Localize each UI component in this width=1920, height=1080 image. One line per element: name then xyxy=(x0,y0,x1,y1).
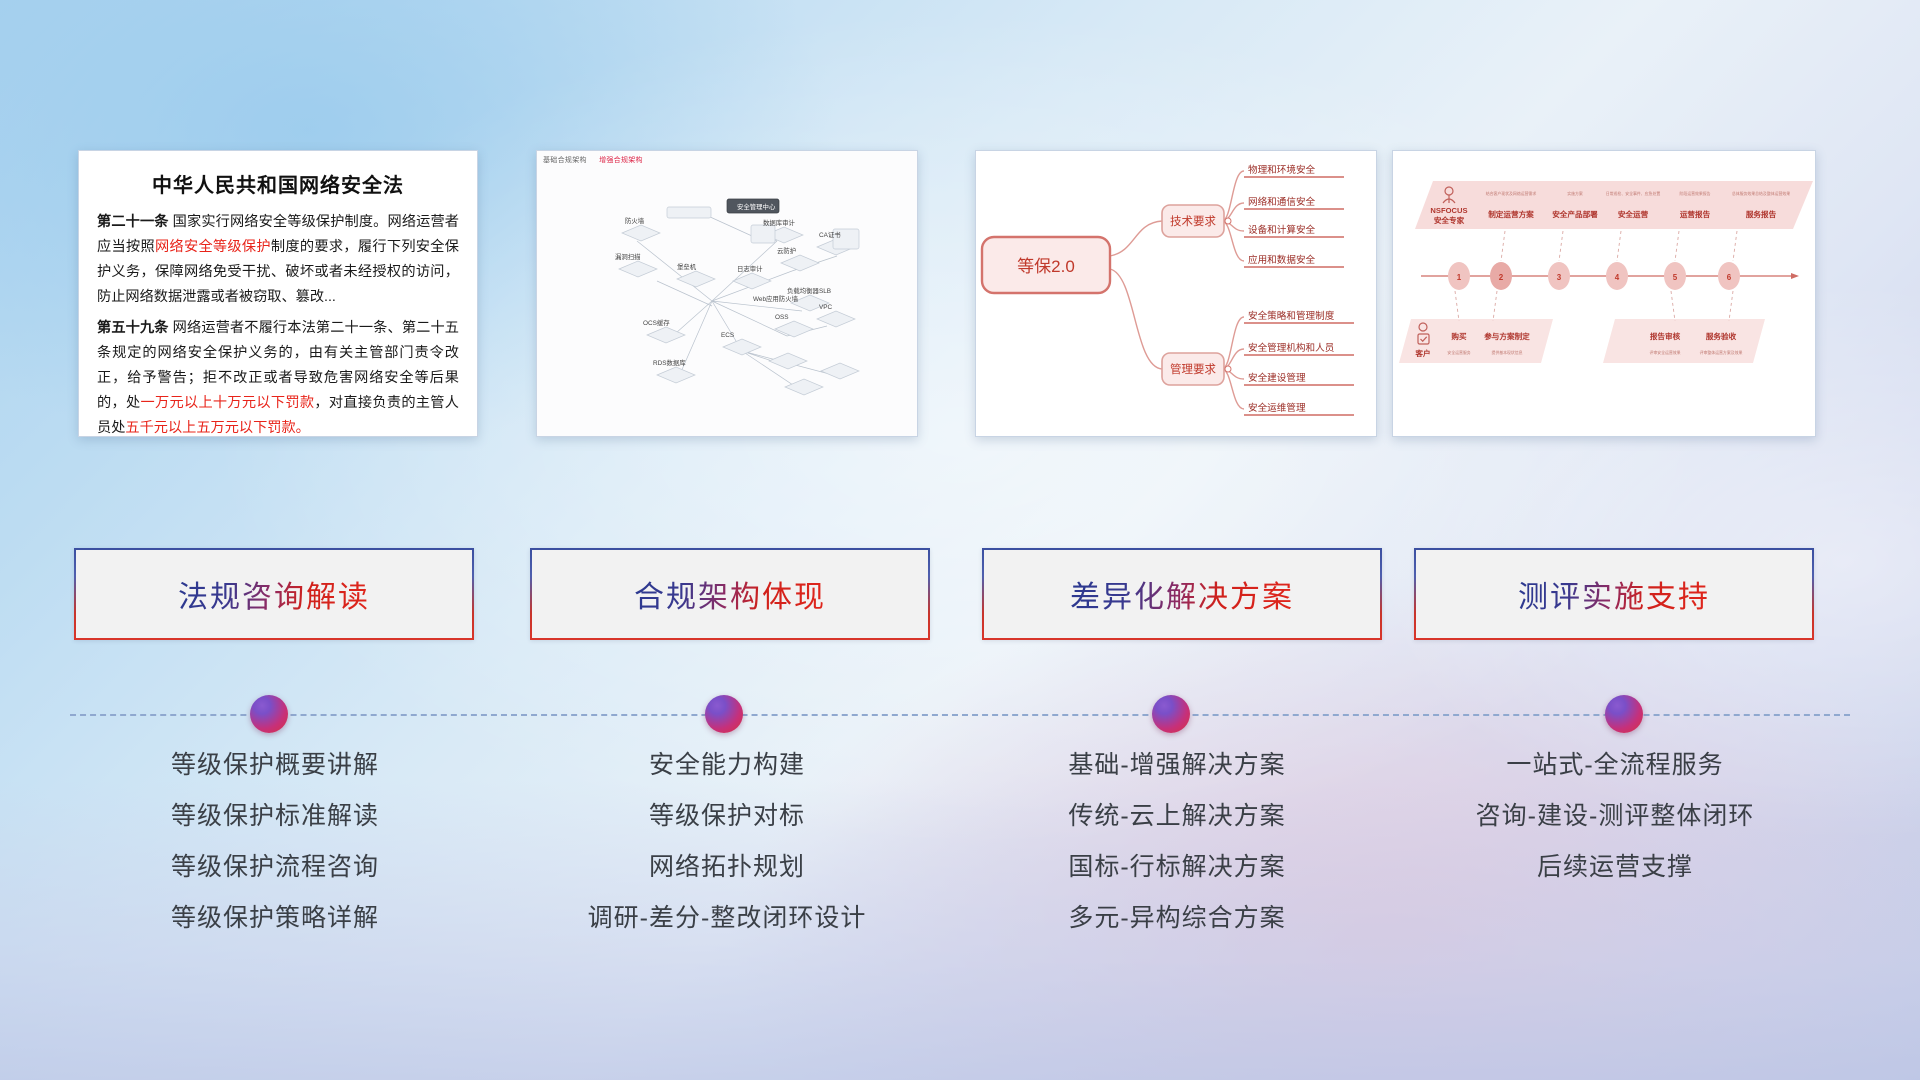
category-label-text-4: 测评实施支持 xyxy=(1518,572,1710,616)
detail-list-column-3: 基础-增强解决方案 传统-云上解决方案 国标-行标解决方案 多元-异构综合方案 xyxy=(962,740,1392,944)
svg-text:ECS: ECS xyxy=(721,332,734,339)
category-label-box-4[interactable]: 测评实施支持 xyxy=(1414,548,1814,640)
top-title-3: 安全运营 xyxy=(1618,209,1649,219)
progress-axis xyxy=(0,695,1920,735)
bottom-sub-1: 安全运营服务 xyxy=(1447,350,1470,355)
architecture-node-labels: 安全管理中心 防火墙 漏洞扫描 堡垒机 日志审计 数据库审计 CA证书 云防护 … xyxy=(615,202,841,367)
top-title-2: 安全产品部署 xyxy=(1552,209,1598,219)
timeline-number-5: 5 xyxy=(1673,273,1678,282)
detail-list-column-2: 安全能力构建 等级保护对标 网络拓扑规划 调研-差分-整改闭环设计 xyxy=(512,740,942,944)
bottom-title-4: 服务验收 xyxy=(1706,331,1737,341)
mindmap-leaf-1-1: 物理和环境安全 xyxy=(1248,164,1316,176)
cards-row: 中华人民共和国网络安全法 第二十一条 国家实行网络安全等级保护制度。网络运营者应… xyxy=(0,150,1920,445)
mindmap-svg: 等保2.0 技术要求 管理要求 物理和环境安全 网络和通信安全 设备和计算安全 … xyxy=(976,151,1376,436)
category-label-box-3[interactable]: 差异化解决方案 xyxy=(982,548,1382,640)
category-label-text-2: 合规架构体现 xyxy=(634,572,826,616)
bottom-sub-4: 评审整体运营方案及效果 xyxy=(1700,350,1743,355)
law-article-59-highlight-2: 五千元以上五万元以下罚款。 xyxy=(125,420,309,436)
timeline-svg: NSFOCUS 安全专家 客户 结合客户现状及网络运营需求 实施方案 日常巡检、… xyxy=(1393,151,1815,436)
timeline-number-1: 1 xyxy=(1457,273,1462,282)
bottom-sub-3: 评审安全运营效果 xyxy=(1649,350,1680,355)
list-item: 等级保护标准解读 xyxy=(60,791,490,842)
law-article-21-highlight: 网络安全等级保护 xyxy=(155,239,271,255)
detail-list-column-4: 一站式-全流程服务 咨询-建设-测评整体闭环 后续运营支撑 xyxy=(1400,740,1830,893)
top-sub-4: 阶段运营效果报告 xyxy=(1679,191,1710,196)
timeline-number-6: 6 xyxy=(1727,273,1732,282)
list-item: 调研-差分-整改闭环设计 xyxy=(512,893,942,944)
list-item: 安全能力构建 xyxy=(512,740,942,791)
bottom-title-3: 报告审核 xyxy=(1650,331,1681,341)
mindmap-leaf-1-2: 网络和通信安全 xyxy=(1248,196,1316,208)
top-title-4: 运营报告 xyxy=(1680,209,1711,219)
mindmap: 等保2.0 技术要求 管理要求 物理和环境安全 网络和通信安全 设备和计算安全 … xyxy=(976,151,1376,436)
top-sub-2: 实施方案 xyxy=(1567,191,1583,196)
list-item: 等级保护概要讲解 xyxy=(60,740,490,791)
svg-text:CA证书: CA证书 xyxy=(819,230,841,239)
law-article-59-number: 第五十九条 xyxy=(97,320,169,336)
service-timeline: NSFOCUS 安全专家 客户 结合客户现状及网络运营需求 实施方案 日常巡检、… xyxy=(1393,151,1815,436)
detail-lists-row: 等级保护概要讲解 等级保护标准解读 等级保护流程咨询 等级保护策略详解 安全能力… xyxy=(0,740,1920,970)
architecture-diagram: 基础合规架构 增强合规架构 xyxy=(537,151,917,436)
svg-text:防火墙: 防火墙 xyxy=(625,216,645,225)
category-label-box-1[interactable]: 法规咨询解读 xyxy=(74,548,474,640)
timeline-arrow-head xyxy=(1791,273,1799,279)
law-article-21-number: 第二十一条 xyxy=(97,214,169,230)
top-sub-1: 结合客户现状及网络运营需求 xyxy=(1486,191,1537,196)
list-item: 一站式-全流程服务 xyxy=(1400,740,1830,791)
law-text-body: 中华人民共和国网络安全法 第二十一条 国家实行网络安全等级保护制度。网络运营者应… xyxy=(79,151,477,436)
mindmap-branch-label-1: 技术要求 xyxy=(1170,215,1216,228)
mindmap-root-label: 等保2.0 xyxy=(1017,257,1075,276)
timeline-number-4: 4 xyxy=(1615,273,1620,282)
list-item: 基础-增强解决方案 xyxy=(962,740,1392,791)
svg-text:堡垒机: 堡垒机 xyxy=(677,262,697,271)
svg-text:安全管理中心: 安全管理中心 xyxy=(737,202,776,211)
list-item: 咨询-建设-测评整体闭环 xyxy=(1400,791,1830,842)
timeline-step-numbers: 1 2 3 4 5 6 xyxy=(1457,273,1732,282)
list-item: 后续运营支撑 xyxy=(1400,842,1830,893)
category-label-text-1: 法规咨询解读 xyxy=(178,572,370,616)
law-article-59: 第五十九条 网络运营者不履行本法第二十一条、第二十五条规定的网络安全保护义务的，… xyxy=(97,316,459,437)
top-sub-5: 总体服务效果总结及整体运营效果 xyxy=(1732,191,1790,196)
timeline-top-band xyxy=(1415,181,1813,229)
list-item: 等级保护流程咨询 xyxy=(60,842,490,893)
expert-label-line1: NSFOCUS xyxy=(1430,206,1467,215)
card-cybersecurity-law[interactable]: 中华人民共和国网络安全法 第二十一条 国家实行网络安全等级保护制度。网络运营者应… xyxy=(78,150,478,437)
svg-text:漏洞扫描: 漏洞扫描 xyxy=(615,252,641,261)
list-item: 传统-云上解决方案 xyxy=(962,791,1392,842)
law-article-59-highlight-1: 一万元以上十万元以下罚款 xyxy=(140,395,314,411)
law-title: 中华人民共和国网络安全法 xyxy=(97,169,459,198)
svg-text:OSS: OSS xyxy=(775,314,789,321)
card-nsfocus-service-timeline[interactable]: NSFOCUS 安全专家 客户 结合客户现状及网络运营需求 实施方案 日常巡检、… xyxy=(1392,150,1816,437)
category-label-text-3: 差异化解决方案 xyxy=(1070,572,1294,616)
svg-text:云防护: 云防护 xyxy=(777,246,796,255)
law-article-21: 第二十一条 国家实行网络安全等级保护制度。网络运营者应当按照网络安全等级保护制度… xyxy=(97,210,459,310)
svg-text:RDS数据库: RDS数据库 xyxy=(653,358,686,367)
mindmap-leaf-2-2: 安全管理机构和人员 xyxy=(1248,342,1334,354)
category-label-row: 法规咨询解读 合规架构体现 差异化解决方案 测评实施支持 xyxy=(0,548,1920,648)
mindmap-collapse-node-1[interactable] xyxy=(1225,218,1231,224)
top-title-1: 制定运营方案 xyxy=(1488,209,1534,219)
list-item: 等级保护对标 xyxy=(512,791,942,842)
timeline-number-2: 2 xyxy=(1499,273,1504,282)
timeline-top-subtitles: 结合客户现状及网络运营需求 实施方案 日常巡检、安全事件、应急处置 阶段运营效果… xyxy=(1486,191,1791,196)
mindmap-leaf-1-4: 应用和数据安全 xyxy=(1248,254,1316,266)
mindmap-collapse-node-2[interactable] xyxy=(1225,366,1231,372)
progress-dot-3[interactable] xyxy=(1152,695,1190,733)
card-cloud-architecture[interactable]: 基础合规架构 增强合规架构 xyxy=(536,150,918,437)
detail-list-column-1: 等级保护概要讲解 等级保护标准解读 等级保护流程咨询 等级保护策略详解 xyxy=(60,740,490,944)
bottom-title-1: 购买 xyxy=(1451,331,1467,341)
mindmap-leaves: 物理和环境安全 网络和通信安全 设备和计算安全 应用和数据安全 安全策略和管理制… xyxy=(1248,164,1335,414)
mindmap-leaf-1-3: 设备和计算安全 xyxy=(1248,224,1316,236)
progress-dot-1[interactable] xyxy=(250,695,288,733)
timeline-number-3: 3 xyxy=(1557,273,1562,282)
svg-text:Web应用防火墙: Web应用防火墙 xyxy=(753,294,799,303)
svg-text:数据库审计: 数据库审计 xyxy=(763,218,796,227)
top-title-5: 服务报告 xyxy=(1746,209,1777,219)
timeline-bottom-band-right xyxy=(1603,319,1765,363)
bottom-sub-2: 提供基本现状信息 xyxy=(1491,350,1522,355)
progress-axis-dashed-line xyxy=(70,714,1850,716)
progress-dot-4[interactable] xyxy=(1605,695,1643,733)
mindmap-leaf-2-1: 安全策略和管理制度 xyxy=(1248,310,1335,322)
svg-text:日志审计: 日志审计 xyxy=(737,264,763,273)
card-mindmap-dengbao[interactable]: 等保2.0 技术要求 管理要求 物理和环境安全 网络和通信安全 设备和计算安全 … xyxy=(975,150,1377,437)
mindmap-leaf-2-4: 安全运维管理 xyxy=(1248,402,1306,414)
list-item: 国标-行标解决方案 xyxy=(962,842,1392,893)
list-item: 多元-异构综合方案 xyxy=(962,893,1392,944)
list-item: 等级保护策略详解 xyxy=(60,893,490,944)
svg-text:负载均衡器SLB: 负载均衡器SLB xyxy=(787,286,831,295)
customer-label: 客户 xyxy=(1415,348,1430,358)
svg-text:OCS缓存: OCS缓存 xyxy=(643,318,670,327)
mindmap-branch-label-2: 管理要求 xyxy=(1170,362,1216,376)
architecture-svg: 安全管理中心 防火墙 漏洞扫描 堡垒机 日志审计 数据库审计 CA证书 云防护 … xyxy=(537,151,917,436)
expert-label-line2: 安全专家 xyxy=(1434,215,1465,225)
bottom-title-2: 参与方案制定 xyxy=(1483,331,1530,341)
top-sub-3: 日常巡检、安全事件、应急处置 xyxy=(1606,191,1661,196)
svg-text:VPC: VPC xyxy=(819,304,833,311)
mindmap-leaf-2-3: 安全建设管理 xyxy=(1248,372,1306,384)
progress-dot-2[interactable] xyxy=(705,695,743,733)
category-label-box-2[interactable]: 合规架构体现 xyxy=(530,548,930,640)
list-item: 网络拓扑规划 xyxy=(512,842,942,893)
